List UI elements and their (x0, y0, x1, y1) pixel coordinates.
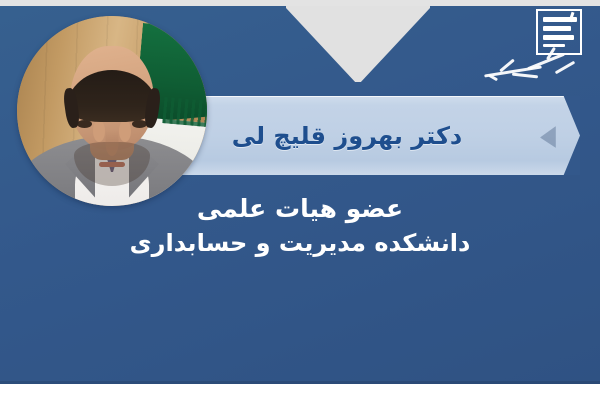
public-relations-calligraphy-icon (482, 50, 586, 86)
ear-right (93, 120, 105, 142)
shahid-beheshti-university-logo-icon (536, 9, 582, 55)
mouth (99, 162, 125, 167)
banner-canvas: دکتر بهروز قلیچ لی عضو (0, 0, 600, 400)
ear-left (119, 120, 131, 142)
person-name: دکتر بهروز قلیچ لی (150, 96, 580, 175)
faculty-name: دانشکده مدیریت و حسابداری (0, 226, 600, 260)
nose (106, 130, 119, 156)
university-logo (478, 6, 588, 90)
face (70, 46, 154, 150)
hair (67, 70, 157, 122)
portrait-photo (17, 16, 207, 206)
name-ribbon: دکتر بهروز قلیچ لی (150, 96, 580, 175)
